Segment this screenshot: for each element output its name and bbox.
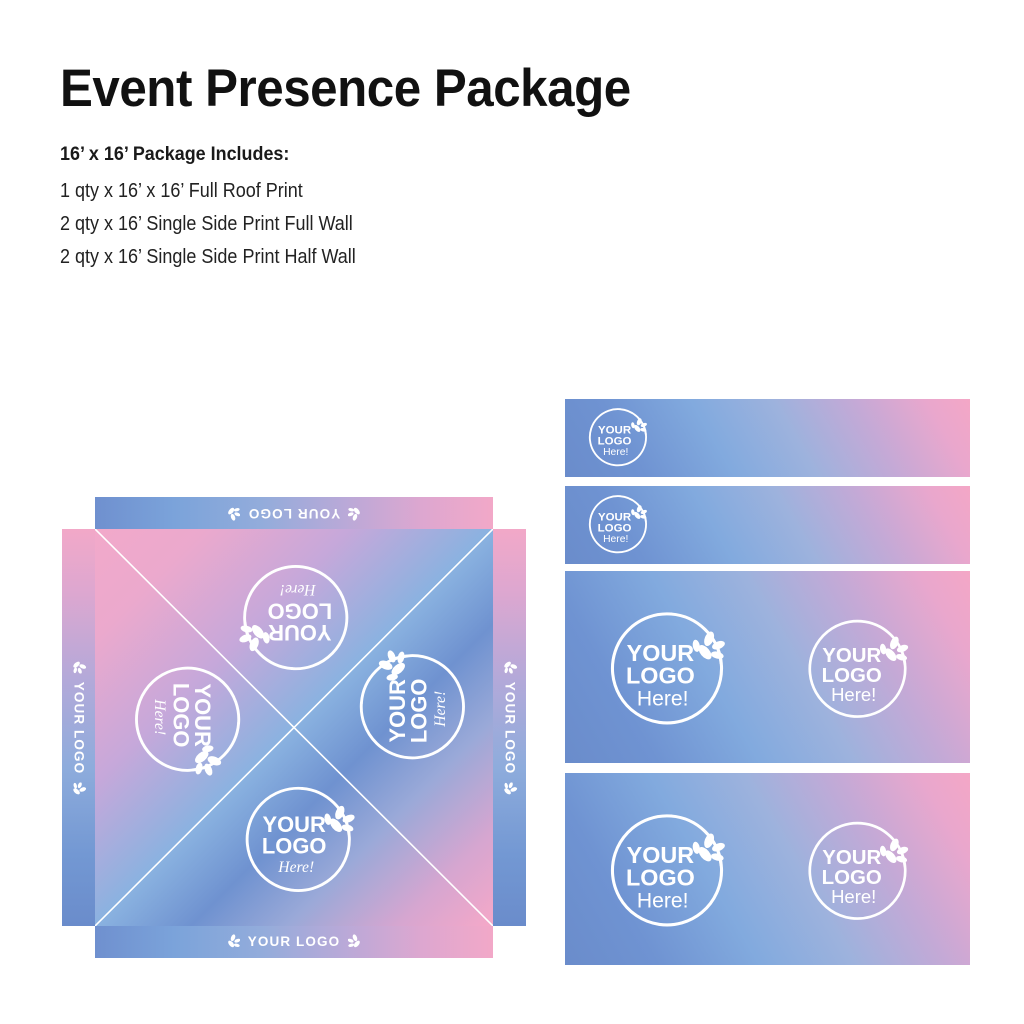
poster-canvas: Event Presence Package 16’ x 16’ Package…: [0, 0, 1024, 1024]
logo-line-2: LOGO: [598, 435, 632, 447]
logo-line-1: YOUR: [627, 640, 695, 666]
panel-logo: YOUR LOGO Here!: [607, 607, 735, 729]
logo-line-3: Here!: [637, 889, 689, 912]
logo-line-1: YOUR: [598, 511, 632, 523]
logo-line-3: Here!: [637, 687, 689, 710]
logo-line-3: Here!: [603, 534, 628, 545]
half-wall-panel-2: YOUR LOGO Here!: [565, 486, 970, 564]
panel-logo: YOUR LOGO Here!: [587, 492, 653, 556]
wall-panels-group: YOUR LOGO Here! YOUR LOGO Here!: [0, 0, 1024, 1024]
logo-line-3: Here!: [831, 684, 876, 705]
full-wall-panel-1: YOUR LOGO Here! YOUR LOGO Here!: [565, 571, 970, 763]
splash-leaf-mark: [631, 505, 648, 521]
logo-line-1: YOUR: [598, 424, 632, 436]
splash-leaf-mark: [692, 832, 726, 864]
splash-leaf-mark: [631, 418, 648, 434]
logo-line-2: LOGO: [626, 865, 695, 891]
panel-logo: YOUR LOGO Here!: [805, 817, 917, 924]
splash-leaf-mark: [879, 837, 909, 865]
panel-logo: YOUR LOGO Here!: [587, 405, 653, 469]
logo-line-2: LOGO: [626, 663, 695, 689]
splash-leaf-mark: [692, 630, 726, 662]
logo-line-3: Here!: [603, 447, 628, 458]
logo-line-3: Here!: [831, 886, 876, 907]
half-wall-panel-1: YOUR LOGO Here!: [565, 399, 970, 477]
logo-line-2: LOGO: [598, 522, 632, 534]
panel-logo: YOUR LOGO Here!: [805, 615, 917, 722]
splash-leaf-mark: [879, 635, 909, 663]
logo-line-1: YOUR: [627, 842, 695, 868]
panel-logo: YOUR LOGO Here!: [607, 809, 735, 931]
full-wall-panel-2: YOUR LOGO Here! YOUR LOGO Here!: [565, 773, 970, 965]
